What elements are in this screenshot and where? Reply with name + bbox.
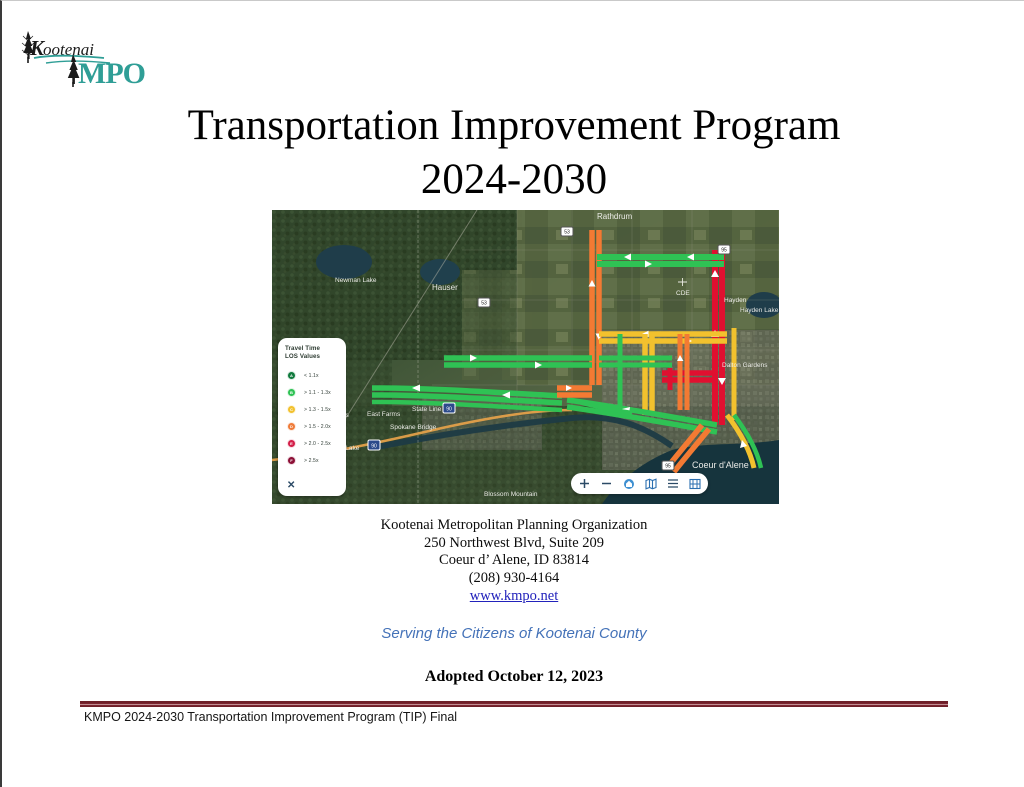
- adoption-date: Adopted October 12, 2023: [2, 668, 1024, 686]
- legend-row: A < 1.1x: [285, 367, 340, 384]
- legend-label-e: > 2.0 - 2.5x: [304, 441, 331, 447]
- footer-divider-inner: [80, 704, 948, 705]
- legend-grade-b: B: [288, 389, 295, 396]
- legend-grade-e: E: [288, 440, 295, 447]
- svg-text:90: 90: [371, 444, 377, 450]
- zoom-in-icon[interactable]: [578, 477, 591, 490]
- travel-time-map-figure: Rathdrum Newman Lake Hauser CDE Hayden H…: [272, 210, 779, 504]
- svg-text:53: 53: [564, 230, 570, 236]
- legend-label-f: > 2.5x: [304, 458, 319, 464]
- svg-text:90: 90: [446, 407, 452, 413]
- svg-text:State Line: State Line: [412, 406, 442, 413]
- svg-text:Blossom Mountain: Blossom Mountain: [484, 491, 538, 498]
- svg-text:95: 95: [721, 248, 727, 254]
- svg-text:95: 95: [665, 464, 671, 470]
- close-icon[interactable]: ✕: [287, 481, 295, 491]
- map-imagery: Rathdrum Newman Lake Hauser CDE Hayden H…: [272, 210, 779, 504]
- svg-text:Hayden: Hayden: [724, 297, 747, 304]
- website-link[interactable]: www.kmpo.net: [470, 588, 558, 604]
- legend-list-icon[interactable]: [666, 477, 679, 490]
- map-legend-panel: Travel Time LOS Values A < 1.1x B > 1.1 …: [278, 338, 346, 496]
- legend-row: E > 2.0 - 2.5x: [285, 435, 340, 452]
- legend-grade-c: C: [288, 406, 295, 413]
- svg-text:Newman Lake: Newman Lake: [335, 277, 377, 284]
- address-city-state-zip: Coeur d’ Alene, ID 83814: [2, 552, 1024, 570]
- svg-text:Coeur d'Alene: Coeur d'Alene: [692, 460, 749, 470]
- svg-text:53: 53: [481, 301, 487, 307]
- legend-label-d: > 1.5 - 2.0x: [304, 424, 331, 430]
- legend-row: F > 2.5x: [285, 452, 340, 469]
- address-street: 250 Northwest Blvd, Suite 209: [2, 535, 1024, 553]
- newman-lake: [316, 245, 372, 279]
- basemap-icon[interactable]: [644, 477, 657, 490]
- map-toolbar: [571, 473, 708, 494]
- logo-word-mpo: MPO: [78, 57, 145, 89]
- svg-text:Dalton Gardens: Dalton Gardens: [722, 362, 768, 369]
- footer-divider: [80, 701, 948, 707]
- legend-dot-a: A: [287, 371, 296, 380]
- legend-dot-b: B: [287, 388, 296, 397]
- title-line-2: 2024-2030: [2, 153, 1024, 207]
- legend-row: B > 1.1 - 1.3x: [285, 384, 340, 401]
- svg-text:East Farms: East Farms: [367, 411, 401, 418]
- svg-text:CDE: CDE: [676, 290, 690, 297]
- home-locate-icon[interactable]: [622, 477, 635, 490]
- legend-dot-d: D: [287, 422, 296, 431]
- legend-grade-f: F: [288, 457, 295, 464]
- legend-title-line-2: LOS Values: [285, 353, 340, 361]
- svg-text:Spokane Bridge: Spokane Bridge: [390, 424, 437, 431]
- legend-label-b: > 1.1 - 1.3x: [304, 390, 331, 396]
- hauser-lake: [420, 259, 460, 285]
- svg-text:Rathdrum: Rathdrum: [597, 212, 632, 221]
- legend-dot-e: E: [287, 439, 296, 448]
- kmpo-logo: K ootenai MPO: [10, 27, 150, 89]
- document-page: K ootenai MPO Transportation Improvement…: [0, 0, 1024, 787]
- legend-grade-d: D: [288, 423, 295, 430]
- address-organization: Kootenai Metropolitan Planning Organizat…: [2, 517, 1024, 535]
- tagline: Serving the Citizens of Kootenai County: [2, 625, 1024, 642]
- legend-title-line-1: Travel Time: [285, 345, 340, 353]
- footer-text: KMPO 2024-2030 Transportation Improvemen…: [84, 710, 457, 724]
- address-phone: (208) 930-4164: [2, 570, 1024, 588]
- legend-label-c: > 1.3 - 1.5x: [304, 407, 331, 413]
- legend-rows: A < 1.1x B > 1.1 - 1.3x C > 1.3 - 1.5x: [285, 367, 340, 469]
- legend-dot-f: F: [287, 456, 296, 465]
- legend-dot-c: C: [287, 405, 296, 414]
- organization-address: Kootenai Metropolitan Planning Organizat…: [2, 517, 1024, 606]
- legend-row: D > 1.5 - 2.0x: [285, 418, 340, 435]
- legend-label-a: < 1.1x: [304, 373, 319, 379]
- page-title: Transportation Improvement Program 2024-…: [2, 99, 1024, 207]
- svg-text:Hayden Lake: Hayden Lake: [740, 307, 779, 314]
- zoom-out-icon[interactable]: [600, 477, 613, 490]
- legend-grade-a: A: [288, 372, 295, 379]
- legend-row: C > 1.3 - 1.5x: [285, 401, 340, 418]
- layers-icon[interactable]: [688, 477, 701, 490]
- title-line-1: Transportation Improvement Program: [2, 99, 1024, 153]
- svg-text:Hauser: Hauser: [432, 283, 458, 292]
